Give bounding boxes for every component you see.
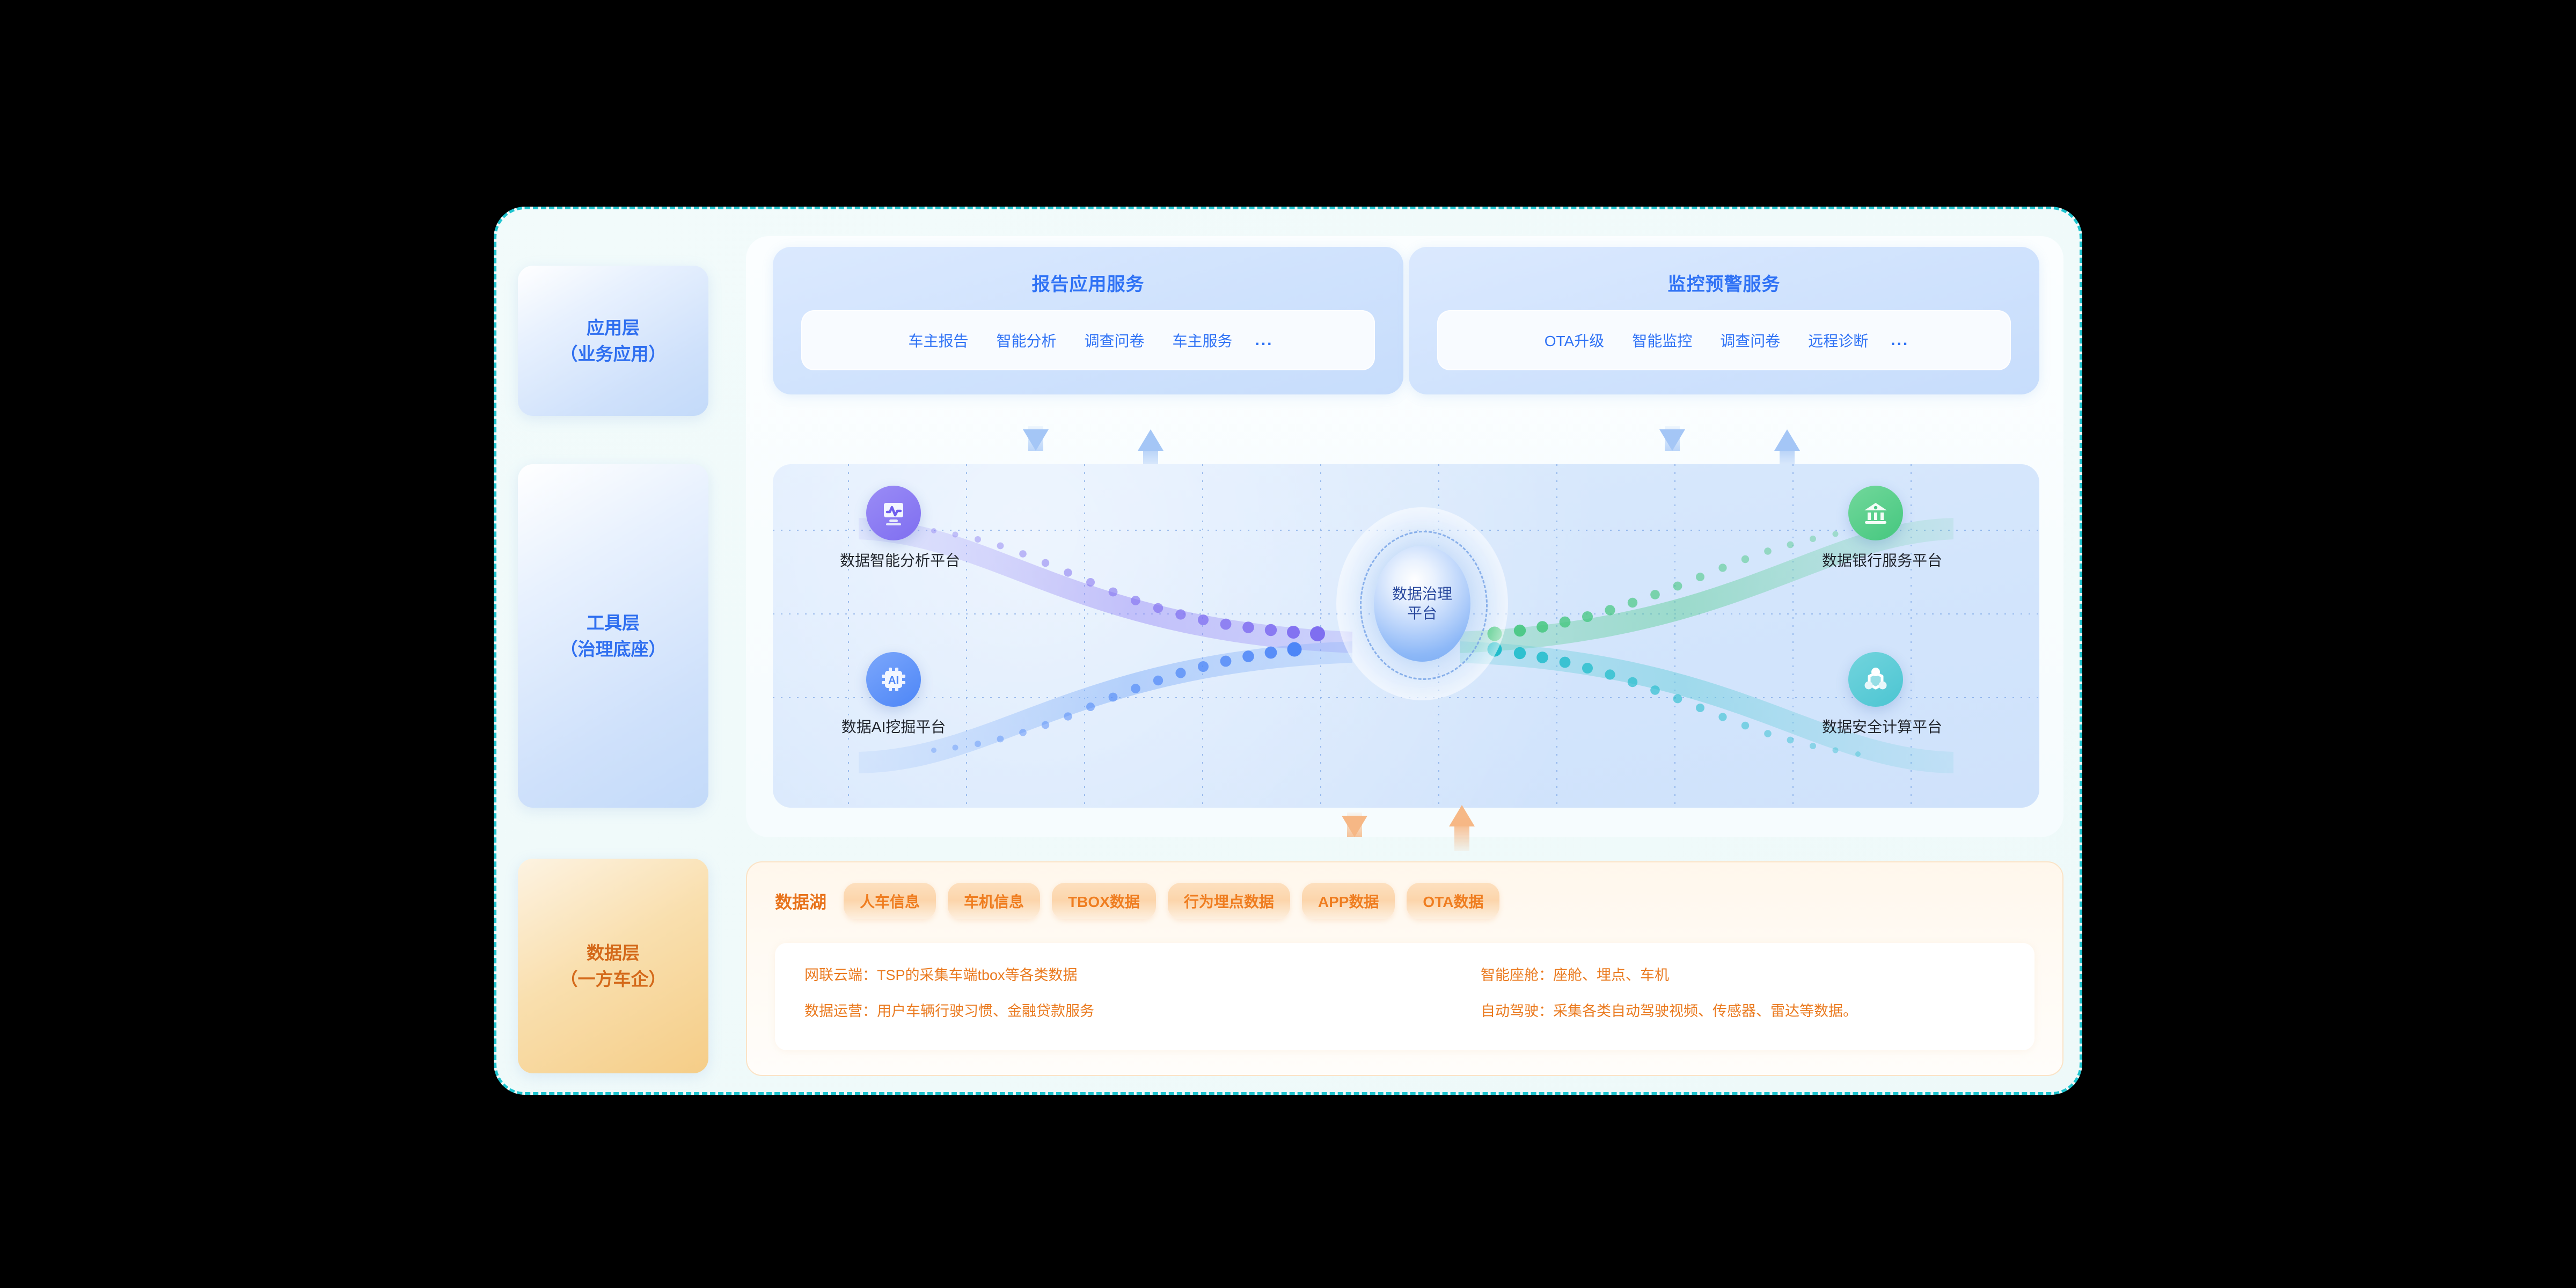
platform-node-data-analytics[interactable]: 数据智能分析平台 (840, 486, 947, 570)
svg-text:AI: AI (888, 675, 899, 686)
data-source-line: 数据运营：用户车辆行驶习惯、金融贷款服务 (804, 999, 1094, 1020)
app-service-card-report-tags: 车主报告 智能分析 调查问卷 车主服务 ... (801, 310, 1375, 370)
app-service-card-report[interactable]: 报告应用服务 车主报告 智能分析 调查问卷 车主服务 ... (773, 247, 1403, 394)
layer-chip-data-title: 数据层 (587, 940, 640, 967)
arrow-up-icon-right (1774, 429, 1800, 451)
data-layer-panel: 数据湖 人车信息 车机信息 TBOX数据 行为埋点数据 APP数据 OTA数据 … (746, 861, 2063, 1076)
platform-node-data-ai[interactable]: AI 数据AI挖掘平台 (840, 652, 947, 737)
app-tag[interactable]: 智能监控 (1618, 330, 1706, 351)
layer-chip-data-subtitle: （一方车企） (560, 966, 667, 993)
ai-chip-icon: AI (866, 652, 921, 707)
layer-chip-application-title: 应用层 (587, 314, 640, 341)
app-tag[interactable]: 调查问卷 (1070, 330, 1158, 351)
data-lake-row: 数据湖 人车信息 车机信息 TBOX数据 行为埋点数据 APP数据 OTA数据 (775, 883, 1499, 919)
layer-chip-data[interactable]: 数据层 （一方车企） (518, 859, 708, 1073)
app-tag[interactable]: 调查问卷 (1706, 330, 1794, 351)
monitor-pulse-icon (866, 486, 921, 540)
arrow-up-icon-data (1449, 805, 1475, 826)
arrow-down-icon-data (1342, 816, 1367, 837)
data-source-line: 自动驾驶：采集各类自动驾驶视频、传感器、雷达等数据。 (1481, 999, 1857, 1020)
app-tag[interactable]: 智能分析 (982, 330, 1070, 351)
data-source-column-left: 网联云端：TSP的采集车端tbox等各类数据 数据运营：用户车辆行驶习惯、金融贷… (804, 963, 1094, 1035)
hub-label-line1: 数据治理 (1392, 584, 1452, 604)
data-source-detail-box: 网联云端：TSP的采集车端tbox等各类数据 数据运营：用户车辆行驶习惯、金融贷… (775, 943, 2035, 1050)
diagram-canvas: 应用层 （业务应用） 工具层 （治理底座） 数据层 （一方车企） 报告应用服务 … (0, 0, 2576, 1288)
app-service-card-monitor-title: 监控预警服务 (1409, 269, 2039, 296)
shield-network-icon (1848, 652, 1903, 707)
app-tag[interactable]: 车主报告 (894, 330, 982, 351)
data-lake-pill[interactable]: OTA数据 (1407, 883, 1499, 919)
app-service-card-monitor[interactable]: 监控预警服务 OTA升级 智能监控 调查问卷 远程诊断 ... (1409, 247, 2039, 394)
platform-node-data-bank[interactable]: 数据银行服务平台 (1822, 486, 1929, 570)
app-service-card-monitor-tags: OTA升级 智能监控 调查问卷 远程诊断 ... (1437, 310, 2011, 370)
data-source-line: 智能座舱：座舱、埋点、车机 (1481, 963, 1857, 984)
app-service-card-report-title: 报告应用服务 (773, 269, 1403, 296)
platform-node-data-security[interactable]: 数据安全计算平台 (1822, 652, 1929, 737)
platform-node-label: 数据AI挖掘平台 (840, 715, 947, 737)
hub-sphere[interactable]: 数据治理 平台 (1374, 546, 1470, 662)
arrow-down-icon-right (1659, 429, 1685, 451)
app-tag[interactable]: 车主服务 (1159, 330, 1247, 351)
bank-building-icon (1848, 486, 1903, 540)
layer-chip-tool[interactable]: 工具层 （治理底座） (518, 464, 708, 808)
platform-node-label: 数据智能分析平台 (840, 549, 947, 570)
layer-chip-application-subtitle: （业务应用） (560, 341, 667, 368)
layer-chip-application[interactable]: 应用层 （业务应用） (518, 266, 708, 416)
arrow-up-icon-left (1138, 429, 1163, 451)
app-tag[interactable]: 远程诊断 (1794, 330, 1882, 351)
data-lake-pill[interactable]: APP数据 (1302, 883, 1395, 919)
hub-label-line2: 平台 (1407, 604, 1437, 623)
data-lake-pill[interactable]: 行为埋点数据 (1168, 883, 1290, 919)
data-source-line: 网联云端：TSP的采集车端tbox等各类数据 (804, 963, 1094, 984)
central-hub[interactable]: 数据治理 平台 (1336, 518, 1508, 690)
layer-chip-tool-title: 工具层 (587, 610, 640, 636)
data-lake-pill[interactable]: TBOX数据 (1052, 883, 1156, 919)
data-lake-pill[interactable]: 车机信息 (948, 883, 1040, 919)
data-lake-pill[interactable]: 人车信息 (844, 883, 936, 919)
app-tag[interactable]: OTA升级 (1531, 330, 1618, 351)
app-tag-more[interactable]: ... (1247, 331, 1282, 349)
data-lake-title: 数据湖 (775, 889, 826, 913)
platform-node-label: 数据银行服务平台 (1822, 549, 1929, 570)
app-tag-more[interactable]: ... (1882, 331, 1918, 349)
layer-chip-tool-subtitle: （治理底座） (560, 636, 667, 663)
platform-node-label: 数据安全计算平台 (1822, 715, 1929, 737)
data-source-column-right: 智能座舱：座舱、埋点、车机 自动驾驶：采集各类自动驾驶视频、传感器、雷达等数据。 (1481, 963, 1857, 1035)
arrow-down-icon-left (1023, 429, 1049, 451)
